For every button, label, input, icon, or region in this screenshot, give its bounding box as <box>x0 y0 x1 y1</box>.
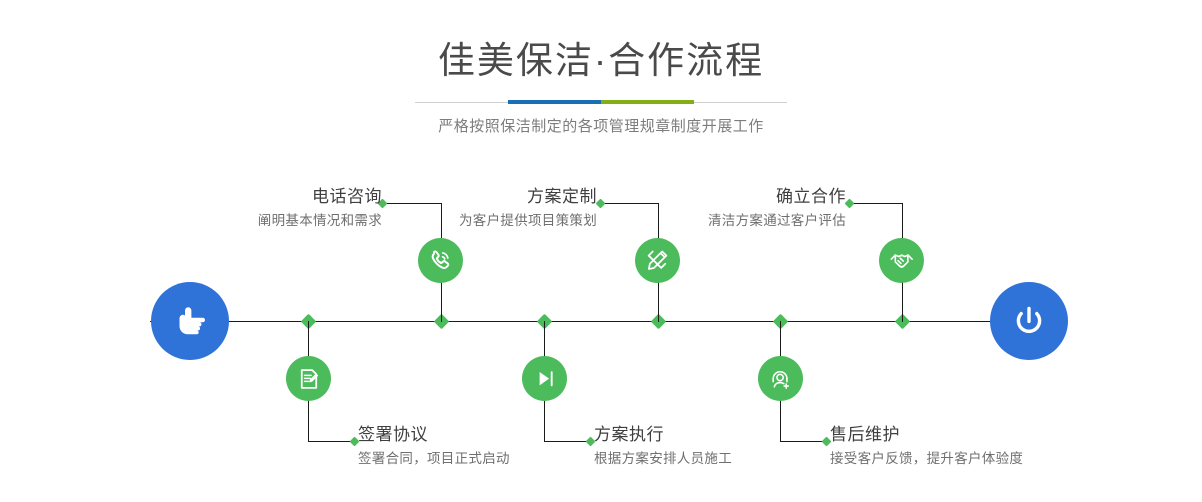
timeline-start-badge <box>151 282 229 360</box>
step-desc-6: 接受客户反馈，提升客户体验度 <box>830 449 1080 469</box>
title-divider <box>415 100 787 104</box>
headset-add-icon <box>768 366 794 392</box>
step-node-5[interactable] <box>879 238 924 283</box>
step-title-1: 电话咨询 <box>186 186 382 208</box>
step-desc-3: 为客户提供项目策策划 <box>404 211 597 231</box>
divider-green-segment <box>601 100 694 104</box>
timeline-axis <box>150 321 1052 322</box>
page-subtitle: 严格按照保洁制定的各项管理规章制度开展工作 <box>0 116 1202 138</box>
document-pen-icon <box>296 366 322 392</box>
step-node-1[interactable] <box>418 238 463 283</box>
connector-dot-step-3 <box>596 199 606 209</box>
step-label-6: 售后维护 接受客户反馈，提升客户体验度 <box>830 424 1080 469</box>
step-title-4: 方案执行 <box>594 424 824 446</box>
connector-step-6-arm <box>780 441 826 442</box>
connector-step-4-arm <box>544 441 590 442</box>
step-desc-1: 阐明基本情况和需求 <box>186 211 382 231</box>
connector-step-5-arm <box>849 203 902 204</box>
phone-call-icon <box>427 247 454 274</box>
handshake-icon <box>888 247 915 274</box>
step-node-3[interactable] <box>635 238 680 283</box>
step-title-6: 售后维护 <box>830 424 1080 446</box>
connector-step-2-arm <box>308 441 354 442</box>
timeline-end-badge <box>990 282 1068 360</box>
step-node-6[interactable] <box>758 356 803 401</box>
divider-blue-segment <box>508 100 601 104</box>
connector-dot-step-5 <box>845 199 855 209</box>
step-desc-4: 根据方案安排人员施工 <box>594 449 824 469</box>
step-title-5: 确立合作 <box>650 186 846 208</box>
pencil-ruler-icon <box>644 247 671 274</box>
pointing-hand-icon <box>167 298 213 344</box>
power-icon <box>1006 298 1052 344</box>
step-node-2[interactable] <box>286 356 331 401</box>
step-desc-5: 清洁方案通过客户评估 <box>650 211 846 231</box>
play-execute-icon <box>532 366 558 392</box>
page-title: 佳美保洁·合作流程 <box>0 38 1202 84</box>
step-label-4: 方案执行 根据方案安排人员施工 <box>594 424 824 469</box>
diagram-header: 佳美保洁·合作流程 严格按照保洁制定的各项管理规章制度开展工作 <box>0 0 1202 138</box>
step-node-4[interactable] <box>522 356 567 401</box>
step-title-3: 方案定制 <box>404 186 597 208</box>
step-label-2: 签署协议 签署合同，项目正式启动 <box>358 424 588 469</box>
step-label-5: 确立合作 清洁方案通过客户评估 <box>650 186 846 231</box>
process-flow-diagram: 佳美保洁·合作流程 严格按照保洁制定的各项管理规章制度开展工作 <box>0 0 1202 502</box>
step-label-1: 电话咨询 阐明基本情况和需求 <box>186 186 382 231</box>
step-title-2: 签署协议 <box>358 424 588 446</box>
step-label-3: 方案定制 为客户提供项目策策划 <box>404 186 597 231</box>
step-desc-2: 签署合同，项目正式启动 <box>358 449 588 469</box>
